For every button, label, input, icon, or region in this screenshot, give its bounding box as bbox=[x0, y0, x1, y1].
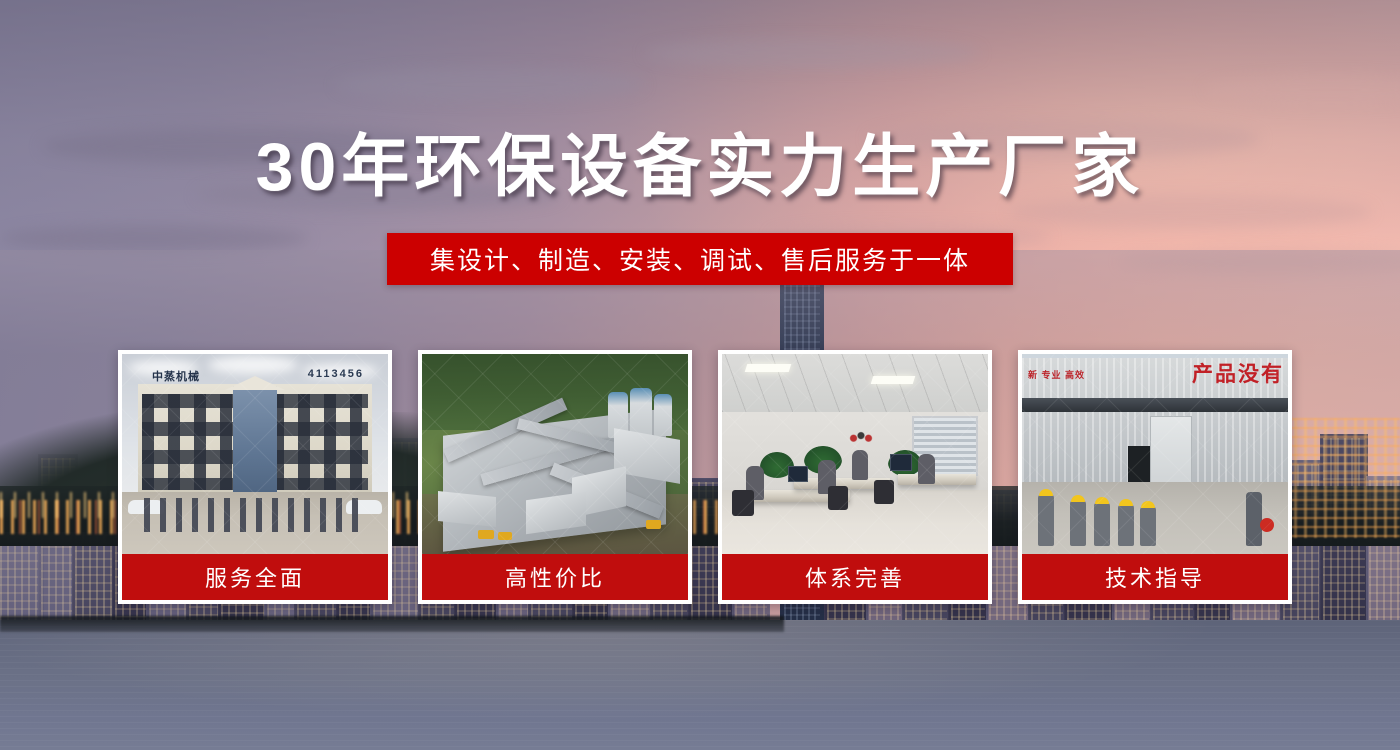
card-1-building-phone: 4113456 bbox=[308, 368, 364, 380]
page-title: 30年环保设备实力生产厂家 bbox=[0, 133, 1400, 201]
cloud-5 bbox=[644, 38, 980, 68]
cloud-4 bbox=[336, 68, 644, 102]
card-3-caption: 体系完善 bbox=[722, 554, 988, 600]
card-2-caption-text: 高性价比 bbox=[505, 561, 605, 593]
card-1-caption-text: 服务全面 bbox=[205, 561, 305, 593]
card-4-photo: 产品没有 新 专业 高效 bbox=[1022, 354, 1288, 554]
feature-card-3[interactable]: 体系完善 bbox=[718, 350, 992, 604]
feature-card-2[interactable]: 高性价比 bbox=[418, 350, 692, 604]
cloud-3 bbox=[0, 225, 308, 252]
subtitle-text: 集设计、制造、安装、调试、售后服务于一体 bbox=[430, 241, 970, 277]
feature-card-4[interactable]: 产品没有 新 专业 高效 技术指导 bbox=[1018, 350, 1292, 604]
promo-banner: 30年环保设备实力生产厂家 集设计、制造、安装、调试、售后服务于一体 中蒸机械 … bbox=[0, 0, 1400, 750]
feature-card-list: 中蒸机械 4113456 服务全面 bbox=[118, 350, 1292, 604]
feature-card-1[interactable]: 中蒸机械 4113456 服务全面 bbox=[118, 350, 392, 604]
subtitle-banner: 集设计、制造、安装、调试、售后服务于一体 bbox=[387, 233, 1013, 285]
card-2-photo bbox=[422, 354, 688, 554]
card-2-caption: 高性价比 bbox=[422, 554, 688, 600]
card-1-caption: 服务全面 bbox=[122, 554, 388, 600]
card-4-factory-slogan: 产品没有 bbox=[1192, 358, 1284, 388]
card-4-caption-text: 技术指导 bbox=[1105, 561, 1205, 593]
card-3-photo bbox=[722, 354, 988, 554]
card-3-caption-text: 体系完善 bbox=[805, 561, 905, 593]
river-bank bbox=[0, 616, 784, 632]
card-4-caption: 技术指导 bbox=[1022, 554, 1288, 600]
card-1-photo: 中蒸机械 4113456 bbox=[122, 354, 388, 554]
card-1-building-sign: 中蒸机械 bbox=[152, 368, 200, 384]
river-reflection bbox=[0, 620, 1400, 750]
